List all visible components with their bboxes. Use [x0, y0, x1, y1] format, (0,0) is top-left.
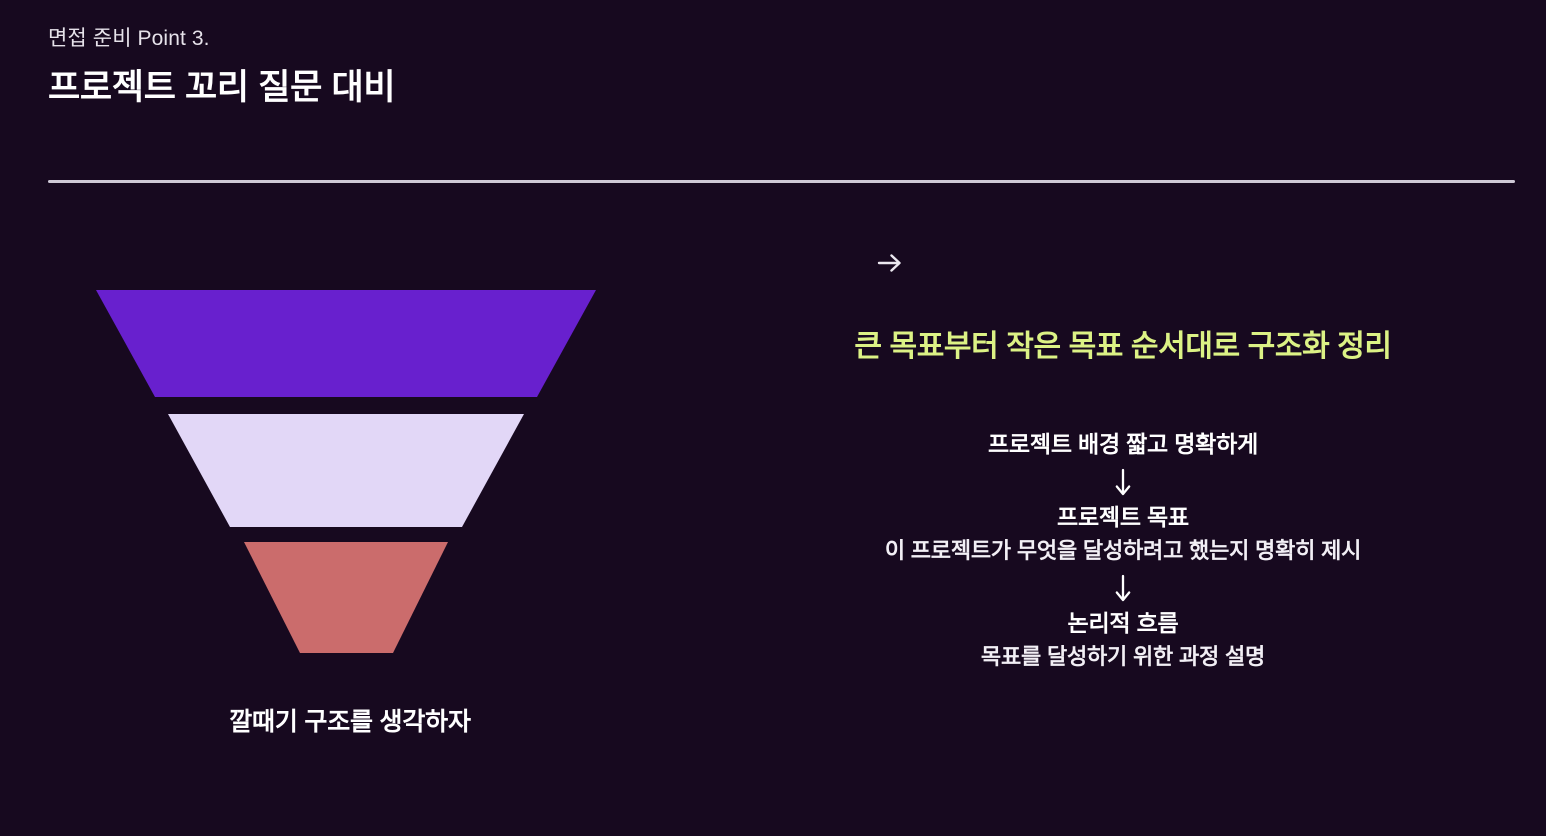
flow-heading: 큰 목표부터 작은 목표 순서대로 구조화 정리: [700, 325, 1546, 369]
arrow-right-icon: [700, 250, 1080, 274]
flow-panel: 큰 목표부터 작은 목표 순서대로 구조화 정리 프로젝트 배경 짧고 명확하게…: [700, 200, 1546, 836]
arrow-down-icon: [700, 567, 1546, 607]
flow-step-title: 프로젝트 배경 짧고 명확하게: [700, 428, 1546, 461]
funnel-segment-bottom-shape: [96, 542, 596, 653]
flow-step: 프로젝트 목표 이 프로젝트가 무엇을 달성하려고 했는지 명확히 제시: [700, 501, 1546, 567]
presentation-slide: 면접 준비 Point 3. 프로젝트 꼬리 질문 대비: [0, 0, 1546, 836]
funnel-segment-bottom: [96, 542, 596, 653]
funnel-segment-top: [96, 290, 596, 397]
flow-step: 프로젝트 배경 짧고 명확하게: [700, 428, 1546, 461]
funnel-panel: 깔때기 구조를 생각하자: [0, 200, 700, 836]
funnel-segment-middle-shape: [96, 414, 596, 527]
flow-step-title: 논리적 흐름: [700, 607, 1546, 640]
flow-steps-list: 프로젝트 배경 짧고 명확하게 프로젝트 목표 이 프로젝트가 무엇을 달성하려…: [700, 428, 1546, 673]
flow-step: 논리적 흐름 목표를 달성하기 위한 과정 설명: [700, 607, 1546, 673]
flow-step-description: 이 프로젝트가 무엇을 달성하려고 했는지 명확히 제시: [700, 534, 1546, 567]
slide-body: 깔때기 구조를 생각하자 큰 목표부터 작은 목표 순서대로 구조화 정리 프로…: [0, 200, 1546, 836]
funnel-segment-middle: [96, 414, 596, 527]
funnel-segment-top-shape: [96, 290, 596, 397]
header-divider: [48, 180, 1515, 183]
slide-eyebrow-text: 면접 준비 Point 3.: [48, 24, 1516, 54]
funnel-caption: 깔때기 구조를 생각하자: [0, 705, 700, 739]
arrow-down-icon: [700, 461, 1546, 501]
slide-header: 면접 준비 Point 3. 프로젝트 꼬리 질문 대비: [48, 24, 1516, 112]
funnel-diagram: [96, 290, 596, 655]
flow-step-description: 목표를 달성하기 위한 과정 설명: [700, 640, 1546, 673]
flow-step-title: 프로젝트 목표: [700, 501, 1546, 534]
funnel-caption-text: 깔때기 구조를 생각하자: [229, 708, 471, 736]
page-title: 프로젝트 꼬리 질문 대비: [48, 64, 1516, 112]
